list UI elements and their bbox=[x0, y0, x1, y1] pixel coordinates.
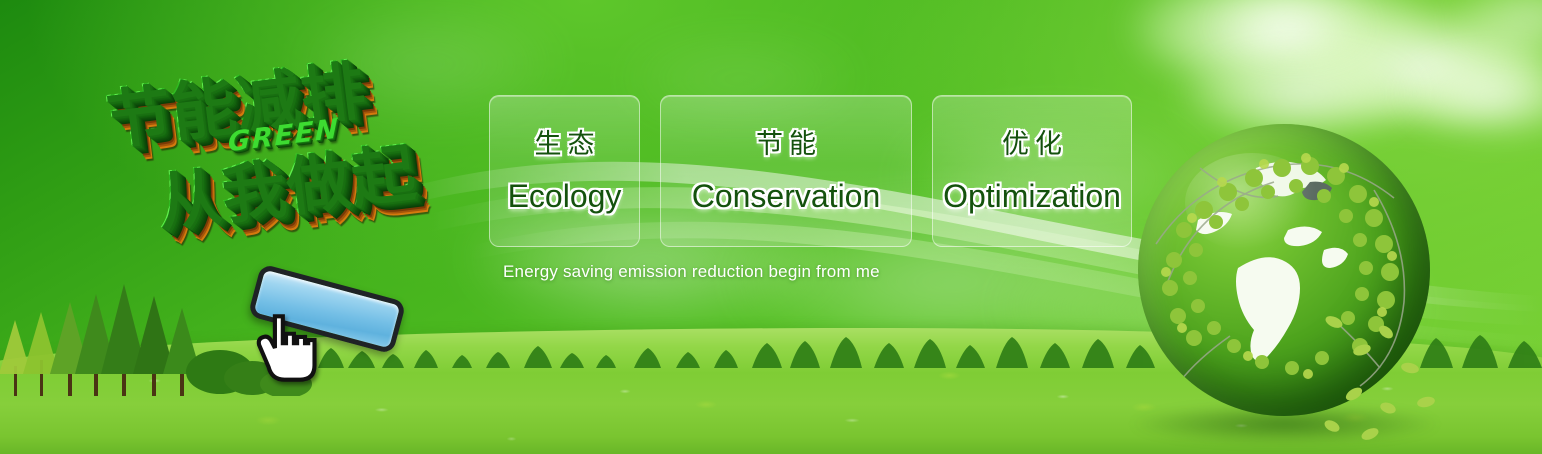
card-conservation-cn: 节能 bbox=[750, 131, 822, 158]
card-ecology-en: Ecology bbox=[508, 180, 622, 212]
feature-card-group: 生态 Ecology 节能 Conservation 优化 Optimizati… bbox=[489, 95, 1132, 247]
card-optimization-cn: 优化 bbox=[996, 131, 1068, 158]
online-selection-cta[interactable]: 在线选型 bbox=[248, 272, 423, 380]
eco-hero-banner: 节能减排 GREEN 从我做起 在线选型 生态 Ecology 节能 Conse… bbox=[0, 0, 1542, 454]
card-optimization[interactable]: 优化 Optimization bbox=[932, 95, 1132, 247]
falling-leaves-icon bbox=[1314, 298, 1464, 448]
card-ecology-cn: 生态 bbox=[529, 131, 601, 158]
hand-pointer-icon bbox=[248, 310, 324, 386]
card-optimization-en: Optimization bbox=[943, 180, 1121, 212]
card-conservation-en: Conservation bbox=[692, 180, 881, 212]
card-conservation[interactable]: 节能 Conservation bbox=[660, 95, 912, 247]
green-leaf-globe bbox=[1124, 118, 1444, 440]
hero-tagline: Energy saving emission reduction begin f… bbox=[503, 262, 880, 282]
card-ecology[interactable]: 生态 Ecology bbox=[489, 95, 640, 247]
